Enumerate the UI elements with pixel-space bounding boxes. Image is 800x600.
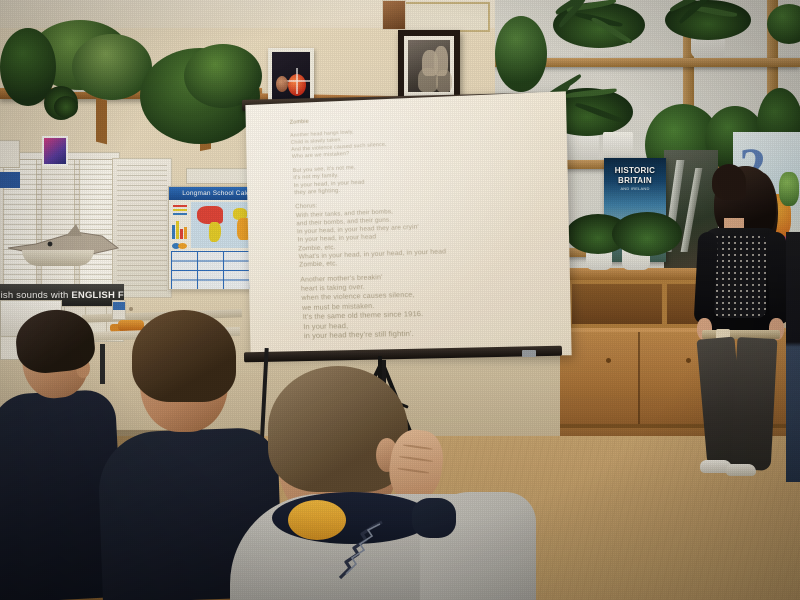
cup-label	[113, 302, 125, 310]
presenter-polka-top	[714, 234, 766, 318]
student-c-cuff	[412, 498, 456, 538]
wall-mark	[129, 307, 133, 311]
banner-text-bold: ENGLISH FILE	[71, 290, 124, 301]
lamp-shade	[22, 250, 94, 266]
cabinet-plant	[612, 212, 682, 256]
presenter-shoe-right	[726, 464, 756, 476]
shelf-bracket	[96, 98, 107, 145]
ivy-trail	[54, 96, 78, 118]
small-wall-art	[382, 0, 406, 30]
hoodie-graphic	[336, 520, 418, 584]
screen-surface: ZombieAnother head hangs lowly,Child is …	[245, 91, 571, 355]
plant-pot	[603, 132, 633, 160]
slide-lyrics: ZombieAnother head hangs lowly,Child is …	[290, 104, 563, 340]
thin-frame-top	[404, 2, 490, 32]
screen-brand-label	[522, 350, 536, 357]
poster-title-line1: HISTORIC	[615, 166, 655, 175]
poster-title-line2: BRITAIN	[618, 176, 652, 185]
classroom-photo: English sounds with ENGLISH FILE Longman…	[0, 0, 800, 600]
table-leg	[100, 344, 105, 384]
presenter-jeans	[700, 338, 782, 468]
presenter-fringe	[712, 164, 746, 200]
poster-title: HISTORIC BRITAIN	[604, 166, 666, 185]
small-poster	[0, 140, 20, 168]
small-blue-poster	[0, 172, 20, 188]
calendar-legend	[171, 203, 189, 249]
student-c-hair	[268, 366, 408, 492]
banner-text-plain: English sounds with	[0, 290, 71, 301]
partial-person-right-edge	[786, 232, 800, 482]
student-b-hair	[132, 310, 236, 402]
colorful-poster	[42, 136, 68, 166]
poster-subtitle: AND IRELAND	[604, 186, 666, 191]
framed-art-hands	[398, 30, 460, 102]
leafy-plant	[495, 16, 547, 92]
projection-screen[interactable]: ZombieAnother head hangs lowly,Child is …	[228, 96, 558, 364]
